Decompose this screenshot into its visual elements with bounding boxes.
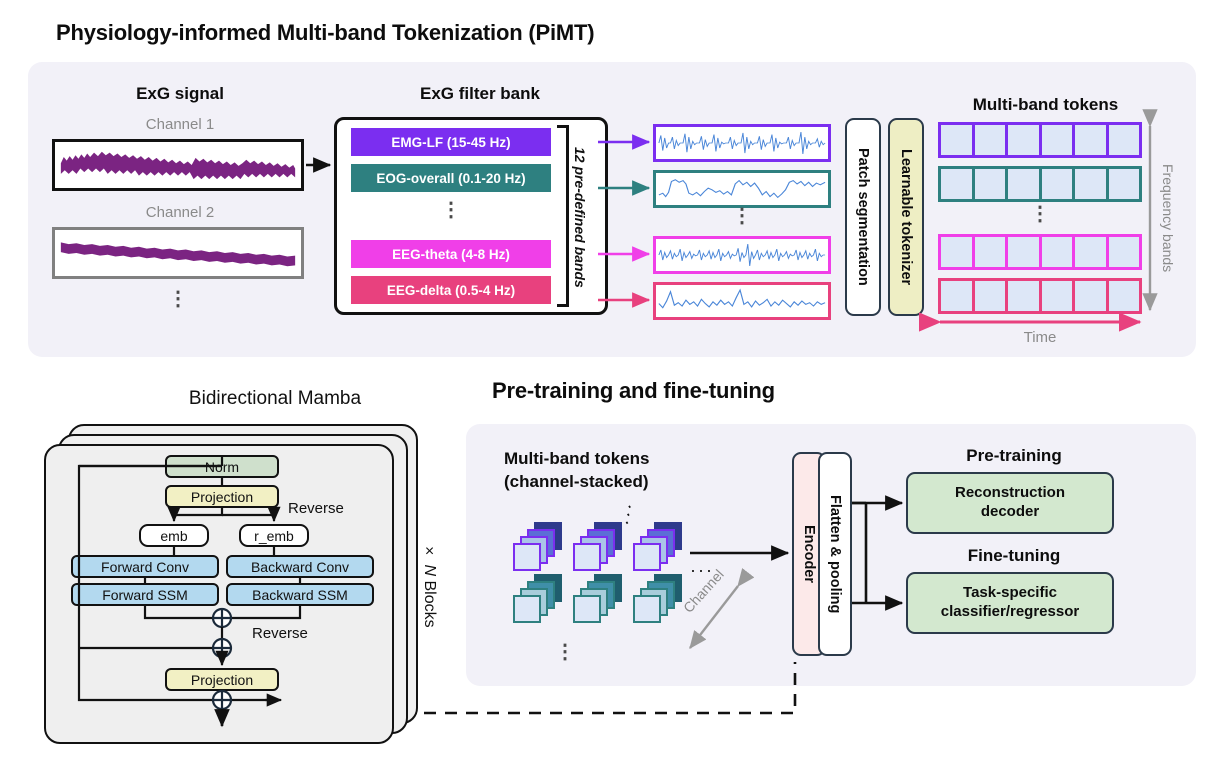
band-label: EOG-overall (0.1-20 Hz): [376, 171, 525, 186]
time-axis-label: Time: [938, 329, 1142, 346]
token-cell[interactable]: [1008, 237, 1042, 267]
mamba-r-emb-label: r_emb: [254, 528, 294, 544]
n-blocks-prefix: ×: [421, 543, 438, 564]
mamba-backward-ssm-label: Backward SSM: [252, 587, 348, 603]
token-row-eog-overall: [938, 166, 1142, 202]
band-label: EMG-LF (15-45 Hz): [391, 135, 510, 150]
channel-1-label: Channel 1: [70, 116, 290, 133]
channel-1-signal-box: [52, 139, 304, 191]
stacked-tokens-group: [505, 518, 705, 663]
exg-channels-ellipsis: ⋮: [52, 297, 304, 302]
token-cell[interactable]: [1042, 281, 1076, 311]
mamba-emb-label: emb: [160, 528, 187, 544]
mamba-backward-ssm-box[interactable]: Backward SSM: [226, 583, 374, 606]
pretrain-tokens-heading-line2: (channel-stacked): [504, 471, 649, 494]
ellipsis-glyph: ⋮: [938, 212, 1142, 217]
task-specific-head-line1: Task-specific: [963, 584, 1057, 603]
token-cube: [513, 543, 541, 571]
learnable-tokenizer-label: Learnable tokenizer: [898, 149, 914, 285]
filtered-signals-ellipsis: ⋮: [653, 214, 831, 219]
multi-band-tokens-heading: Multi-band tokens: [938, 95, 1153, 115]
pretrain-tokens-heading: Multi-band tokens (channel-stacked): [504, 448, 649, 494]
token-rows-ellipsis: ⋮: [938, 212, 1142, 217]
channel-2-waveform: [55, 230, 301, 276]
n-blocks-suffix: Blocks: [421, 576, 438, 628]
ellipsis-glyph: ⋮: [653, 214, 831, 219]
mamba-reverse-top-label: Reverse: [288, 500, 344, 517]
band-eeg-delta[interactable]: EEG-delta (0.5-4 Hz): [351, 276, 551, 304]
token-cell[interactable]: [975, 237, 1009, 267]
token-cell[interactable]: [941, 281, 975, 311]
token-cell[interactable]: [941, 237, 975, 267]
mamba-projection-top-box[interactable]: Projection: [165, 485, 279, 508]
token-cell[interactable]: [975, 125, 1009, 155]
token-cube: [573, 595, 601, 623]
channel-2-signal-box: [52, 227, 304, 279]
mamba-forward-ssm-label: Forward SSM: [102, 587, 188, 603]
token-cell[interactable]: [975, 169, 1009, 199]
token-cell[interactable]: [1042, 169, 1076, 199]
token-cell[interactable]: [1008, 281, 1042, 311]
channel-2-label: Channel 2: [70, 204, 290, 221]
mamba-emb-box[interactable]: emb: [139, 524, 209, 547]
mamba-projection-top-label: Projection: [191, 489, 253, 505]
token-row-emg-lf: [938, 122, 1142, 158]
band-emg-lf[interactable]: EMG-LF (15-45 Hz): [351, 128, 551, 156]
filtered-waveform: [656, 127, 828, 159]
token-row-eeg-theta: [938, 234, 1142, 270]
bands-bracket: [557, 125, 569, 307]
token-cell[interactable]: [1075, 281, 1109, 311]
patch-segmentation-box[interactable]: Patch segmentation: [845, 118, 881, 316]
token-row-eeg-delta: [938, 278, 1142, 314]
task-specific-head-box[interactable]: Task-specific classifier/regressor: [906, 572, 1114, 634]
token-cell[interactable]: [941, 125, 975, 155]
reconstruction-decoder-box[interactable]: Reconstruction decoder: [906, 472, 1114, 534]
learnable-tokenizer-box[interactable]: Learnable tokenizer: [888, 118, 924, 316]
token-cell[interactable]: [1109, 125, 1140, 155]
token-cell[interactable]: [1109, 237, 1140, 267]
bands-bracket-label: 12 pre-defined bands: [572, 147, 588, 288]
token-cell[interactable]: [1109, 169, 1140, 199]
bands-bracket-label-wrap: 12 pre-defined bands: [572, 127, 588, 307]
figure-bottom-title: Pre-training and fine-tuning: [492, 378, 775, 404]
ellipsis-glyph: ⋮: [52, 297, 304, 302]
ellipsis-glyph: ⋮: [545, 650, 585, 655]
mamba-projection-bottom-label: Projection: [191, 672, 253, 688]
filtered-signal-emg-lf: [653, 124, 831, 162]
mamba-forward-conv-box[interactable]: Forward Conv: [71, 555, 219, 578]
filter-bank-heading: ExG filter bank: [355, 84, 605, 104]
reconstruction-decoder-line1: Reconstruction: [955, 484, 1065, 503]
mamba-norm-box[interactable]: Norm: [165, 455, 279, 478]
patch-segmentation-label: Patch segmentation: [855, 148, 871, 286]
channel-1-waveform: [55, 142, 301, 188]
mamba-forward-ssm-box[interactable]: Forward SSM: [71, 583, 219, 606]
encoder-label: Encoder: [801, 525, 817, 583]
pretrain-tokens-heading-line1: Multi-band tokens: [504, 448, 649, 471]
filtered-signal-eog-overall: [653, 170, 831, 208]
band-label: EEG-delta (0.5-4 Hz): [387, 283, 515, 298]
filtered-waveform: [656, 285, 828, 317]
filtered-signal-eeg-delta: [653, 282, 831, 320]
n-blocks-label-wrap: × N Blocks: [420, 470, 438, 700]
mamba-r-emb-box[interactable]: r_emb: [239, 524, 309, 547]
filtered-waveform: [656, 173, 828, 205]
filter-bank-ellipsis: ⋮: [351, 208, 551, 213]
mamba-projection-bottom-box[interactable]: Projection: [165, 668, 279, 691]
token-cell[interactable]: [941, 169, 975, 199]
token-cell[interactable]: [1042, 125, 1076, 155]
band-eeg-theta[interactable]: EEG-theta (4-8 Hz): [351, 240, 551, 268]
mamba-reverse-bottom-label: Reverse: [252, 625, 308, 642]
mamba-backward-conv-box[interactable]: Backward Conv: [226, 555, 374, 578]
token-cell[interactable]: [1075, 237, 1109, 267]
token-cube: [633, 595, 661, 623]
flatten-pooling-label: Flatten & pooling: [827, 495, 843, 613]
exg-signal-heading: ExG signal: [70, 84, 290, 104]
band-label: EEG-theta (4-8 Hz): [392, 247, 510, 262]
token-cell[interactable]: [975, 281, 1009, 311]
pretraining-branch-heading: Pre-training: [906, 446, 1122, 466]
token-cube: [573, 543, 601, 571]
stacked-tokens-vertical-ellipsis: ⋮: [545, 650, 585, 655]
figure-top-title: Physiology-informed Multi-band Tokenizat…: [56, 20, 594, 46]
filtered-signal-eeg-theta: [653, 236, 831, 274]
mamba-forward-conv-label: Forward Conv: [101, 559, 189, 575]
reconstruction-decoder-line2: decoder: [981, 503, 1039, 522]
token-cell[interactable]: [1075, 125, 1109, 155]
flatten-pooling-box[interactable]: Flatten & pooling: [818, 452, 852, 656]
ellipsis-glyph: ⋮: [351, 208, 551, 213]
token-cell[interactable]: [1008, 169, 1042, 199]
n-blocks-var: N: [421, 564, 438, 576]
mamba-backward-conv-label: Backward Conv: [251, 559, 349, 575]
token-cell[interactable]: [1109, 281, 1140, 311]
mamba-norm-label: Norm: [205, 459, 239, 475]
filtered-waveform: [656, 239, 828, 271]
mamba-title: Bidirectional Mamba: [140, 388, 410, 410]
frequency-bands-axis-label: Frequency bands: [1160, 164, 1176, 272]
token-cell[interactable]: [1075, 169, 1109, 199]
finetuning-branch-heading: Fine-tuning: [906, 546, 1122, 566]
task-specific-head-line2: classifier/regressor: [941, 603, 1079, 622]
token-cube: [633, 543, 661, 571]
token-cell[interactable]: [1008, 125, 1042, 155]
frequency-bands-axis-label-wrap: Frequency bands: [1160, 122, 1176, 314]
token-cell[interactable]: [1042, 237, 1076, 267]
token-cube: [513, 595, 541, 623]
band-eog-overall[interactable]: EOG-overall (0.1-20 Hz): [351, 164, 551, 192]
